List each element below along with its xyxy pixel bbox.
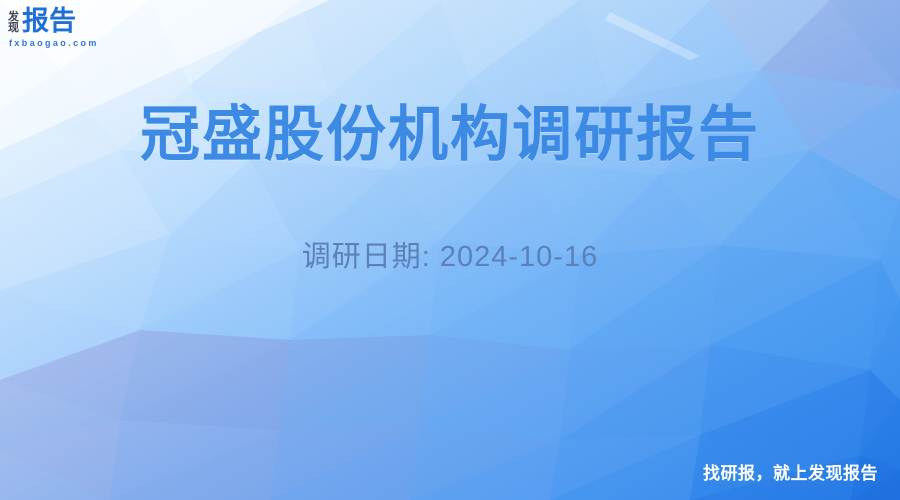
footer-tagline: 找研报，就上发现报告 <box>703 459 878 484</box>
logo-wordmark-row: 发 现 报告 <box>8 8 76 35</box>
logo-char-xian: 现 <box>8 23 19 34</box>
report-cover-page: 发 现 报告 fxbaogao.com 冠盛股份机构调研报告 调研日期: 202… <box>0 0 900 500</box>
page-title: 冠盛股份机构调研报告 <box>0 86 900 173</box>
logo-char-fa: 发 <box>8 12 19 23</box>
brand-logo[interactable]: 发 现 报告 fxbaogao.com <box>8 8 99 48</box>
logo-faxian-stack: 发 现 <box>8 10 19 34</box>
survey-date-subtitle: 调研日期: 2024-10-16 <box>0 233 900 275</box>
logo-baogao-text: 报告 <box>22 8 76 35</box>
logo-domain-text: fxbaogao.com <box>9 38 99 48</box>
